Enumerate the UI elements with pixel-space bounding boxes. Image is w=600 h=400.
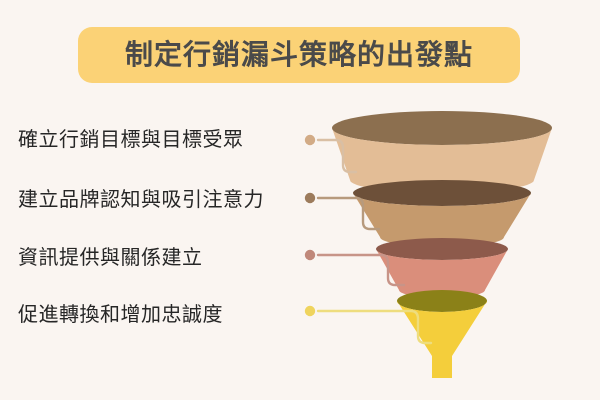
connector-1 [305, 135, 356, 172]
connector-1-dot [305, 135, 315, 145]
connector-3-dot [305, 250, 315, 260]
connector-3-line [318, 255, 404, 285]
connector-4-line [318, 311, 431, 343]
connector-lines [0, 0, 600, 400]
connector-1-line [318, 140, 356, 172]
connector-2-line [318, 198, 379, 229]
connector-3 [305, 250, 404, 285]
funnel-infographic: 制定行銷漏斗策略的出發點 確立行銷目標與目標受眾 建立品牌認知與吸引注意力 資訊… [0, 0, 600, 400]
connector-4 [305, 306, 431, 343]
connector-4-dot [305, 306, 315, 316]
connector-2-dot [305, 193, 315, 203]
connector-2 [305, 193, 379, 229]
